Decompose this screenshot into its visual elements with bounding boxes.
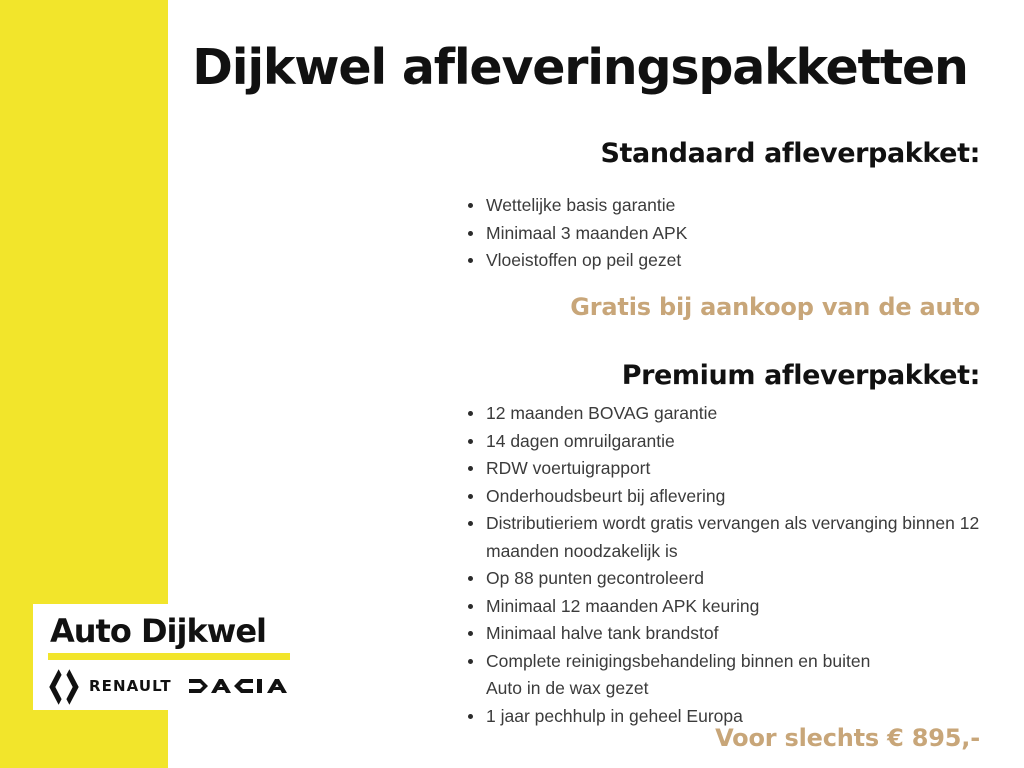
list-item: Vloeistoffen op peil gezet (468, 247, 988, 275)
standard-package-heading: Standaard afleverpakket: (180, 138, 980, 169)
standard-package-list: Wettelijke basis garantie Minimaal 3 maa… (448, 192, 988, 275)
list-item-label: Distributieriem wordt gratis vervangen a… (486, 513, 979, 561)
promo-poster: Dijkwel afleveringspakketten Standaard a… (0, 0, 1024, 768)
list-item-label: Vloeistoffen op peil gezet (486, 250, 681, 270)
content-column: Dijkwel afleveringspakketten Standaard a… (180, 0, 980, 768)
list-item-label: 1 jaar pechhulp in geheel Europa (486, 706, 743, 726)
list-item-label: Minimaal 12 maanden APK keuring (486, 596, 759, 616)
list-item: Distributieriem wordt gratis vervangen a… (468, 510, 988, 565)
list-item: 12 maanden BOVAG garantie (468, 400, 988, 428)
list-item-label: Auto in de wax gezet (486, 678, 648, 698)
list-item: Onderhoudsbeurt bij aflevering (468, 483, 988, 511)
list-item-label: Minimaal halve tank brandstof (486, 623, 718, 643)
logo-underline-bar (48, 653, 290, 660)
list-item: Wettelijke basis garantie (468, 192, 988, 220)
premium-package-price-note: Voor slechts € 895,- (180, 724, 980, 752)
list-item-label: 12 maanden BOVAG garantie (486, 403, 717, 423)
renault-wordmark-label: RENAULT (89, 677, 172, 695)
list-item-label: Minimaal 3 maanden APK (486, 223, 687, 243)
list-item: Minimaal 3 maanden APK (468, 220, 988, 248)
brand-logos-row: RENAULT (41, 666, 290, 706)
premium-package-list: 12 maanden BOVAG garantie 14 dagen omrui… (448, 400, 988, 730)
list-item-label: 14 dagen omruilgarantie (486, 431, 675, 451)
list-item-label: Complete reinigingsbehandeling binnen en… (486, 651, 870, 671)
list-item-continuation: Auto in de wax gezet (468, 675, 988, 703)
list-item: Op 88 punten gecontroleerd (468, 565, 988, 593)
list-item: 14 dagen omruilgarantie (468, 428, 988, 456)
list-item-label: Wettelijke basis garantie (486, 195, 675, 215)
premium-package-heading: Premium afleverpakket: (180, 360, 980, 391)
list-item: Minimaal 12 maanden APK keuring (468, 593, 988, 621)
list-item: RDW voertuigrapport (468, 455, 988, 483)
list-item-label: Op 88 punten gecontroleerd (486, 568, 704, 588)
dealer-logo-block: Auto Dijkwel RENAULT (33, 604, 290, 710)
list-item: Minimaal halve tank brandstof (468, 620, 988, 648)
list-item-label: RDW voertuigrapport (486, 458, 650, 478)
page-title: Dijkwel afleveringspakketten (180, 42, 980, 93)
renault-diamond-icon (47, 668, 81, 706)
dealer-name-label: Auto Dijkwel (50, 612, 266, 650)
list-item-label: Onderhoudsbeurt bij aflevering (486, 486, 725, 506)
list-item: Complete reinigingsbehandeling binnen en… (468, 648, 988, 676)
standard-package-price-note: Gratis bij aankoop van de auto (180, 293, 980, 321)
dacia-wordmark-icon (189, 676, 287, 696)
